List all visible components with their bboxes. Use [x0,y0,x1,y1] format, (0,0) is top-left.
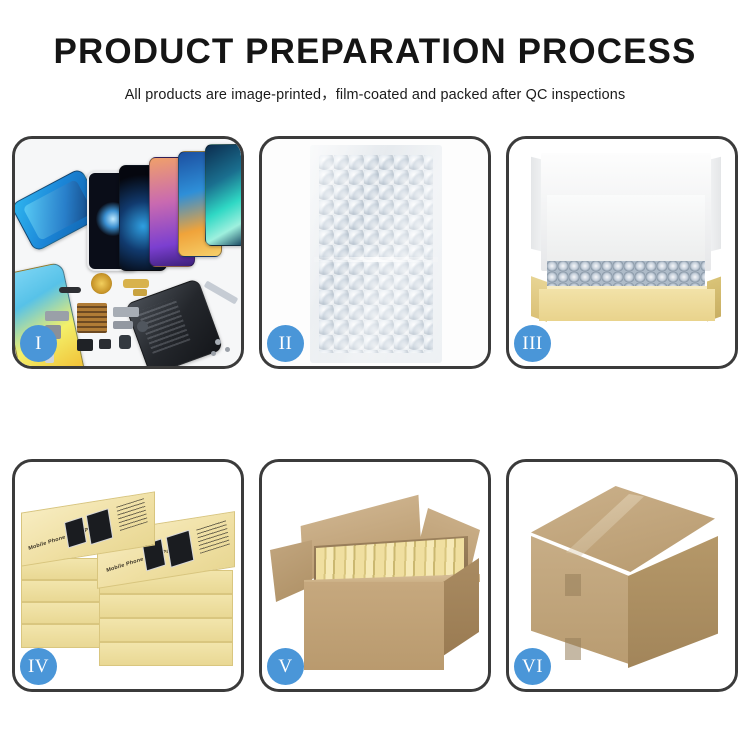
bubble-wrap-sheen [310,145,442,363]
part-connector-4 [113,321,133,329]
part-black-strip [59,287,81,293]
process-step-panel-6[interactable]: VI [506,459,738,692]
process-step-panel-4[interactable]: Mobile Phone Spare Parts Mobile Phone Sp… [12,459,244,692]
carton-front-face [304,582,444,670]
page-subtitle: All products are image-printed，film-coat… [0,83,750,104]
process-step-panel-5[interactable]: V [259,459,491,692]
part-copper-grid [77,303,107,333]
part-flex-cable-2 [133,289,147,296]
retail-box-slab-r2 [99,594,233,618]
part-connector-3 [113,307,139,317]
retail-box-spec-lines-2 [196,519,230,553]
process-step-panel-2[interactable]: II [259,136,491,369]
part-ic-chip-2 [99,339,111,349]
inner-box-wall [547,195,705,263]
part-flex-cable-1 [123,279,149,288]
step-badge-4: IV [20,648,57,685]
part-screw-3 [211,351,216,356]
part-screw-1 [215,339,221,345]
inner-box-front-panel [539,289,715,321]
process-step-panel-3[interactable]: III [506,136,738,369]
part-wireless-coil [91,273,112,294]
part-connector-1 [45,311,69,321]
retail-box-slab-r4 [99,642,233,666]
retail-box-thumbnail-1b [86,508,114,545]
step-badge-1: I [20,325,57,362]
part-ic-chip-1 [77,339,93,351]
step-badge-2: II [267,325,304,362]
retail-box-spec-lines-1 [116,498,148,531]
sealed-carton-tape-tab-upper [565,574,581,596]
retail-box-thumbnail-2b [166,530,195,568]
step-badge-3: III [514,325,551,362]
page-header: PRODUCT PREPARATION PROCESS All products… [0,0,750,104]
retail-box-slab-r3 [99,618,233,642]
sealed-carton-tape-tab-lower [565,638,581,660]
part-screw-2 [225,347,230,352]
process-step-panel-1[interactable]: I [12,136,244,369]
page-title: PRODUCT PREPARATION PROCESS [0,34,750,71]
phone-screen-teal [205,144,241,246]
part-camera-lens [137,321,148,332]
step-badge-6: VI [514,648,551,685]
retail-box-thumbnail-1a [64,517,87,549]
process-step-grid: I II III [12,136,738,692]
step-badge-5: V [267,648,304,685]
part-button-module [119,335,131,349]
